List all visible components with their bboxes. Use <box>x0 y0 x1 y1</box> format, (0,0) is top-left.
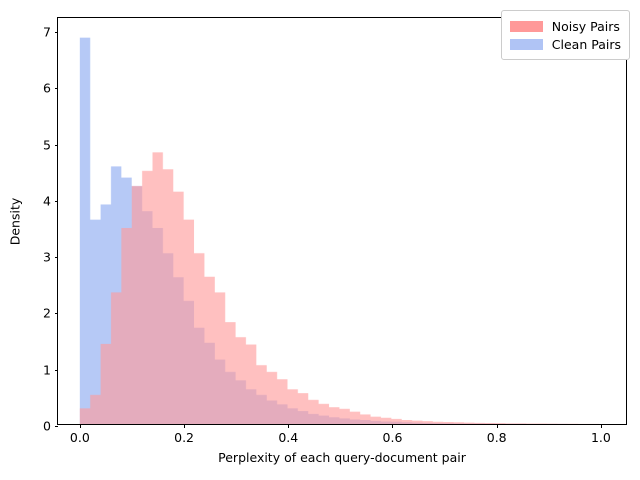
histogram-canvas <box>58 18 626 424</box>
y-tick-label: 3 <box>43 250 51 265</box>
histogram-figure: 01234567 0.00.20.40.60.81.0 Perplexity o… <box>0 0 640 480</box>
legend-swatch-noisy-pairs <box>510 21 543 32</box>
legend-label-noisy-pairs: Noisy Pairs <box>552 19 620 34</box>
legend: Noisy Pairs Clean Pairs <box>501 10 630 60</box>
y-axis-label: Density <box>7 17 23 425</box>
x-tick-mark <box>497 424 498 428</box>
y-tick-mark <box>55 201 59 202</box>
x-axis-label: Perplexity of each query-document pair <box>57 450 627 465</box>
y-tick-label: 0 <box>43 419 51 434</box>
y-tick-label: 1 <box>43 362 51 377</box>
legend-label-clean-pairs: Clean Pairs <box>552 37 621 52</box>
x-tick-label: 0.0 <box>70 430 90 445</box>
y-tick-mark <box>55 426 59 427</box>
y-tick-mark <box>55 145 59 146</box>
x-tick-label: 1.0 <box>591 430 611 445</box>
legend-item-clean-pairs: Clean Pairs <box>510 35 621 53</box>
x-tick-label: 0.4 <box>278 430 298 445</box>
x-tick-label: 0.6 <box>383 430 403 445</box>
y-tick-mark <box>55 88 59 89</box>
y-tick-label: 6 <box>43 81 51 96</box>
legend-item-noisy-pairs: Noisy Pairs <box>510 17 621 35</box>
x-tick-mark <box>80 424 81 428</box>
y-tick-mark <box>55 313 59 314</box>
y-tick-label: 2 <box>43 306 51 321</box>
plot-area: 01234567 0.00.20.40.60.81.0 <box>57 17 627 425</box>
x-tick-mark <box>601 424 602 428</box>
y-tick-label: 4 <box>43 193 51 208</box>
y-tick-mark <box>55 32 59 33</box>
y-tick-label: 7 <box>43 25 51 40</box>
y-tick-mark <box>55 257 59 258</box>
y-tick-mark <box>55 370 59 371</box>
x-tick-label: 0.2 <box>174 430 194 445</box>
legend-swatch-clean-pairs <box>510 39 543 50</box>
x-tick-mark <box>184 424 185 428</box>
x-tick-mark <box>392 424 393 428</box>
x-tick-label: 0.8 <box>487 430 507 445</box>
y-axis-label-text: Density <box>8 197 23 245</box>
y-tick-label: 5 <box>43 137 51 152</box>
x-tick-mark <box>288 424 289 428</box>
